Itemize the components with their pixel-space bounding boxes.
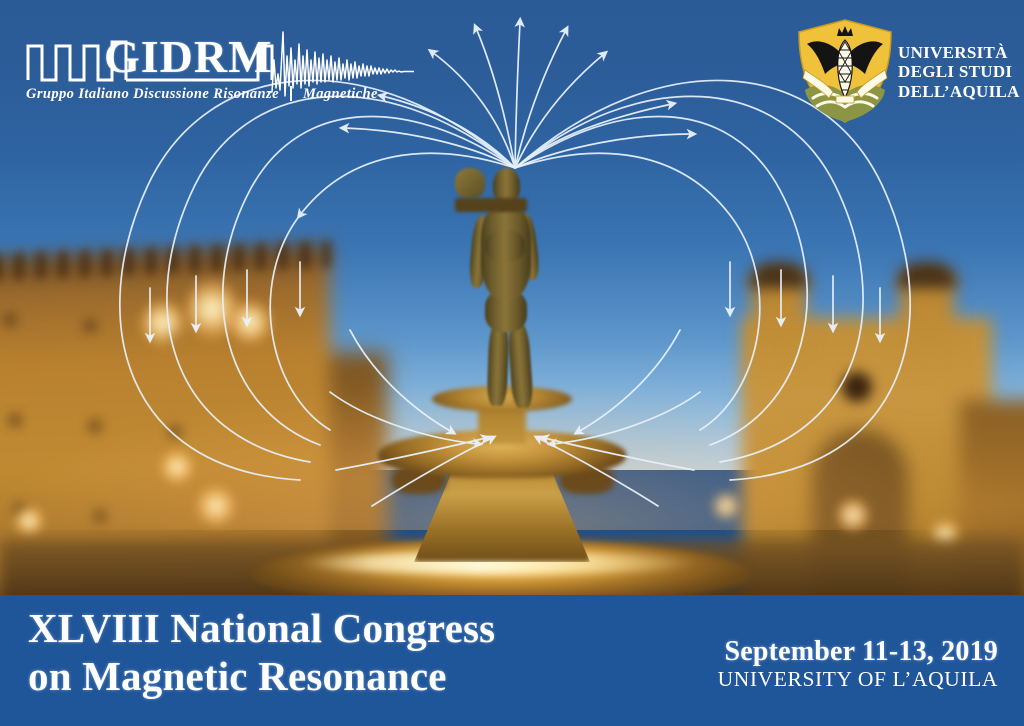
university-name: UNIVERSITÀ DEGLI STUDI DELL’AQUILA (898, 43, 1020, 101)
congress-title: XLVIII National Congress on Magnetic Res… (28, 604, 495, 701)
gidrm-subtitle-part2: Magnetiche (303, 86, 378, 102)
university-name-line1: UNIVERSITÀ (898, 43, 1020, 62)
university-name-line3: DELL’AQUILA (898, 82, 1020, 101)
gidrm-wordmark: GIDRM (104, 34, 273, 80)
statue-held-object (455, 168, 485, 198)
statue-left-leg (487, 324, 510, 407)
university-name-line2: DEGLI STUDI (898, 62, 1020, 81)
congress-venue: UNIVERSITY OF L’AQUILA (718, 667, 998, 692)
university-logo[interactable]: UNIVERSITÀ DEGLI STUDI DELL’AQUILA (795, 18, 1024, 124)
title-banner: XLVIII National Congress on Magnetic Res… (0, 595, 1024, 726)
congress-title-line2: on Magnetic Resonance (28, 652, 495, 700)
statue-right-leg (507, 323, 534, 408)
gidrm-subtitle-part1: Gruppo Italiano Discussione Risonanze (26, 86, 279, 102)
statue-plinth (455, 198, 527, 212)
bronze-statue-icon (455, 168, 575, 413)
gidrm-subtitle-separator (290, 86, 292, 101)
gidrm-subtitle: Gruppo Italiano Discussione Risonanze Ma… (26, 86, 426, 103)
date-venue-block: September 11-13, 2019 UNIVERSITY OF L’AQ… (718, 636, 998, 692)
congress-date: September 11-13, 2019 (718, 636, 998, 667)
gidrm-logo[interactable]: GIDRM Gruppo Italiano Discussione Risona… (26, 28, 426, 116)
statue-hands (485, 230, 525, 262)
bell-tower-cap-left (749, 262, 809, 288)
university-laquila-crest-icon (795, 18, 895, 124)
congress-title-line1: XLVIII National Congress (28, 604, 495, 652)
conference-poster: GIDRM Gruppo Italiano Discussione Risona… (0, 0, 1024, 726)
bell-tower-cap-right (897, 262, 957, 288)
